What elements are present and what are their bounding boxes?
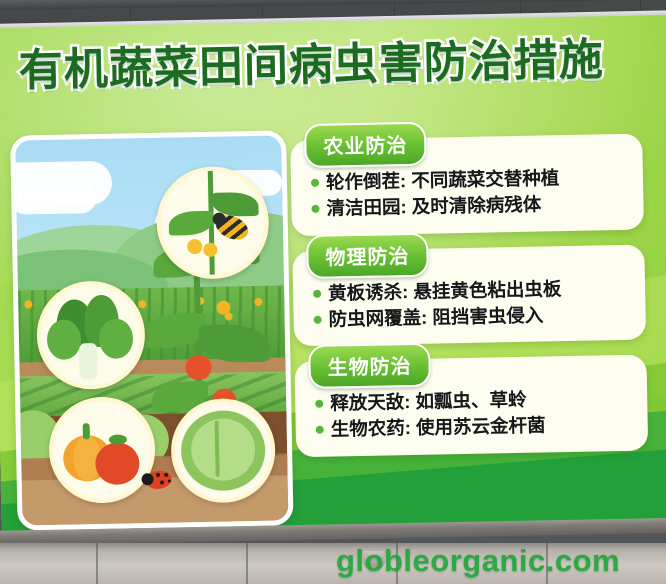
list-item: 生物农药: 使用苏云金杆菌 — [316, 411, 634, 443]
floor-seam — [96, 543, 98, 584]
crawling-ladybug-icon — [141, 468, 177, 492]
page-title: 有机蔬菜田间病虫害防治措施 — [18, 37, 649, 93]
section-heading-agricultural: 农业防治 — [304, 122, 427, 168]
bullet-dot-icon — [315, 400, 323, 408]
bullet-list-physical: 黄板诱杀: 悬挂黄色粘出虫板 防虫网覆盖: 阻挡害虫侵入 — [313, 274, 632, 333]
mag-fruit — [203, 243, 217, 257]
bullet-dot-icon — [316, 426, 324, 434]
section-heading-biological: 生物防治 — [308, 343, 431, 389]
section-card-agricultural: 农业防治 轮作倒茬: 不同蔬菜交替种植 清洁田园: 及时清除病残体 — [290, 134, 644, 236]
section-card-physical: 物理防治 黄板诱杀: 悬挂黄色粘出虫板 防虫网覆盖: 阻挡害虫侵入 — [292, 244, 646, 346]
photo-scene: 有机蔬菜田间病虫害防治措施 — [0, 0, 666, 584]
section-heading-physical: 物理防治 — [306, 232, 429, 278]
cloud-icon — [10, 183, 97, 215]
bullet-dot-icon — [311, 179, 319, 187]
bullet-list-agricultural: 轮作倒茬: 不同蔬菜交替种植 清洁田园: 及时清除病残体 — [311, 164, 630, 223]
bullet-dot-icon — [314, 316, 322, 324]
mag-leaf — [169, 211, 213, 236]
watermark: globleorganic.com — [336, 543, 620, 579]
list-item-text: 释放天敌: 如瓢虫、草蛉 — [330, 387, 527, 417]
list-item-text: 清洁田园: 及时清除病残体 — [326, 192, 541, 222]
list-item-text: 生物农药: 使用苏云金杆菌 — [331, 413, 546, 443]
bullet-dot-icon — [311, 205, 319, 213]
mag-fruit — [187, 239, 202, 254]
floor-seam — [246, 543, 248, 584]
list-item: 清洁田园: 及时清除病残体 — [311, 190, 629, 222]
illustration-panel — [10, 130, 294, 530]
bullet-dot-icon — [313, 289, 321, 297]
bullet-list-biological: 释放天敌: 如瓢虫、草蛉 生物农药: 使用苏云金杆菌 — [315, 385, 634, 444]
poster-board: 有机蔬菜田间病虫害防治措施 — [0, 15, 666, 540]
list-item: 防虫网覆盖: 阻挡害虫侵入 — [313, 301, 631, 333]
measures-list: 农业防治 轮作倒茬: 不同蔬菜交替种植 清洁田园: 及时清除病残体 物理防治 — [290, 134, 648, 472]
section-card-biological: 生物防治 释放天敌: 如瓢虫、草蛉 生物农药: 使用苏云金杆菌 — [294, 355, 648, 457]
list-item-text: 防虫网覆盖: 阻挡害虫侵入 — [328, 302, 543, 332]
